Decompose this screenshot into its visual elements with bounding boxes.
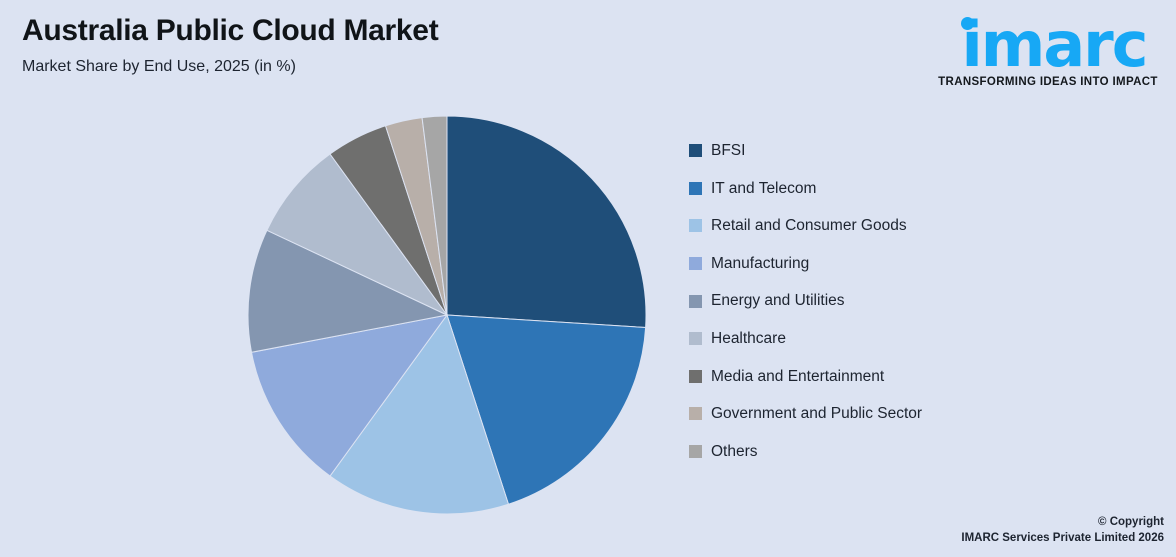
legend-item[interactable]: BFSI — [689, 132, 1109, 170]
imarc-logo: imarc TRANSFORMING IDEAS INTO IMPACT — [928, 10, 1168, 110]
legend-item-label: Media and Entertainment — [711, 369, 884, 385]
legend-item[interactable]: IT and Telecom — [689, 170, 1109, 208]
copyright-notice: © Copyright IMARC Services Private Limit… — [961, 514, 1164, 547]
legend-item-label: BFSI — [711, 143, 745, 159]
legend-swatch-icon — [689, 445, 702, 458]
legend-item[interactable]: Government and Public Sector — [689, 395, 1109, 433]
legend-swatch-icon — [689, 219, 702, 232]
chart-page: Australia Public Cloud Market Market Sha… — [0, 0, 1176, 557]
legend-item-label: Healthcare — [711, 331, 786, 347]
legend-item-label: Government and Public Sector — [711, 406, 922, 422]
legend-item[interactable]: Media and Entertainment — [689, 358, 1109, 396]
chart-header: Australia Public Cloud Market Market Sha… — [22, 14, 722, 76]
legend-item[interactable]: Others — [689, 433, 1109, 471]
legend-swatch-icon — [689, 144, 702, 157]
pie-slice-group — [248, 116, 646, 514]
pie-slice — [447, 116, 646, 328]
logo-wordmark: imarc — [934, 10, 1174, 80]
legend-item[interactable]: Energy and Utilities — [689, 282, 1109, 320]
pie-chart — [247, 115, 647, 515]
legend-item[interactable]: Healthcare — [689, 320, 1109, 358]
chart-legend: BFSIIT and TelecomRetail and Consumer Go… — [689, 132, 1109, 470]
legend-swatch-icon — [689, 257, 702, 270]
pie-chart-svg — [247, 115, 647, 515]
legend-item-label: IT and Telecom — [711, 181, 816, 197]
legend-swatch-icon — [689, 295, 702, 308]
legend-swatch-icon — [689, 370, 702, 383]
legend-item-label: Retail and Consumer Goods — [711, 218, 907, 234]
copyright-line-2: IMARC Services Private Limited 2026 — [961, 530, 1164, 547]
legend-item-label: Others — [711, 444, 758, 460]
page-title: Australia Public Cloud Market — [22, 14, 722, 49]
legend-item[interactable]: Manufacturing — [689, 245, 1109, 283]
legend-swatch-icon — [689, 332, 702, 345]
legend-item-label: Manufacturing — [711, 256, 809, 272]
chart-subtitle: Market Share by End Use, 2025 (in %) — [22, 57, 722, 76]
legend-swatch-icon — [689, 182, 702, 195]
legend-swatch-icon — [689, 407, 702, 420]
legend-item[interactable]: Retail and Consumer Goods — [689, 207, 1109, 245]
logo-mark: imarc — [928, 10, 1168, 80]
legend-item-label: Energy and Utilities — [711, 293, 845, 309]
copyright-line-1: © Copyright — [961, 514, 1164, 531]
